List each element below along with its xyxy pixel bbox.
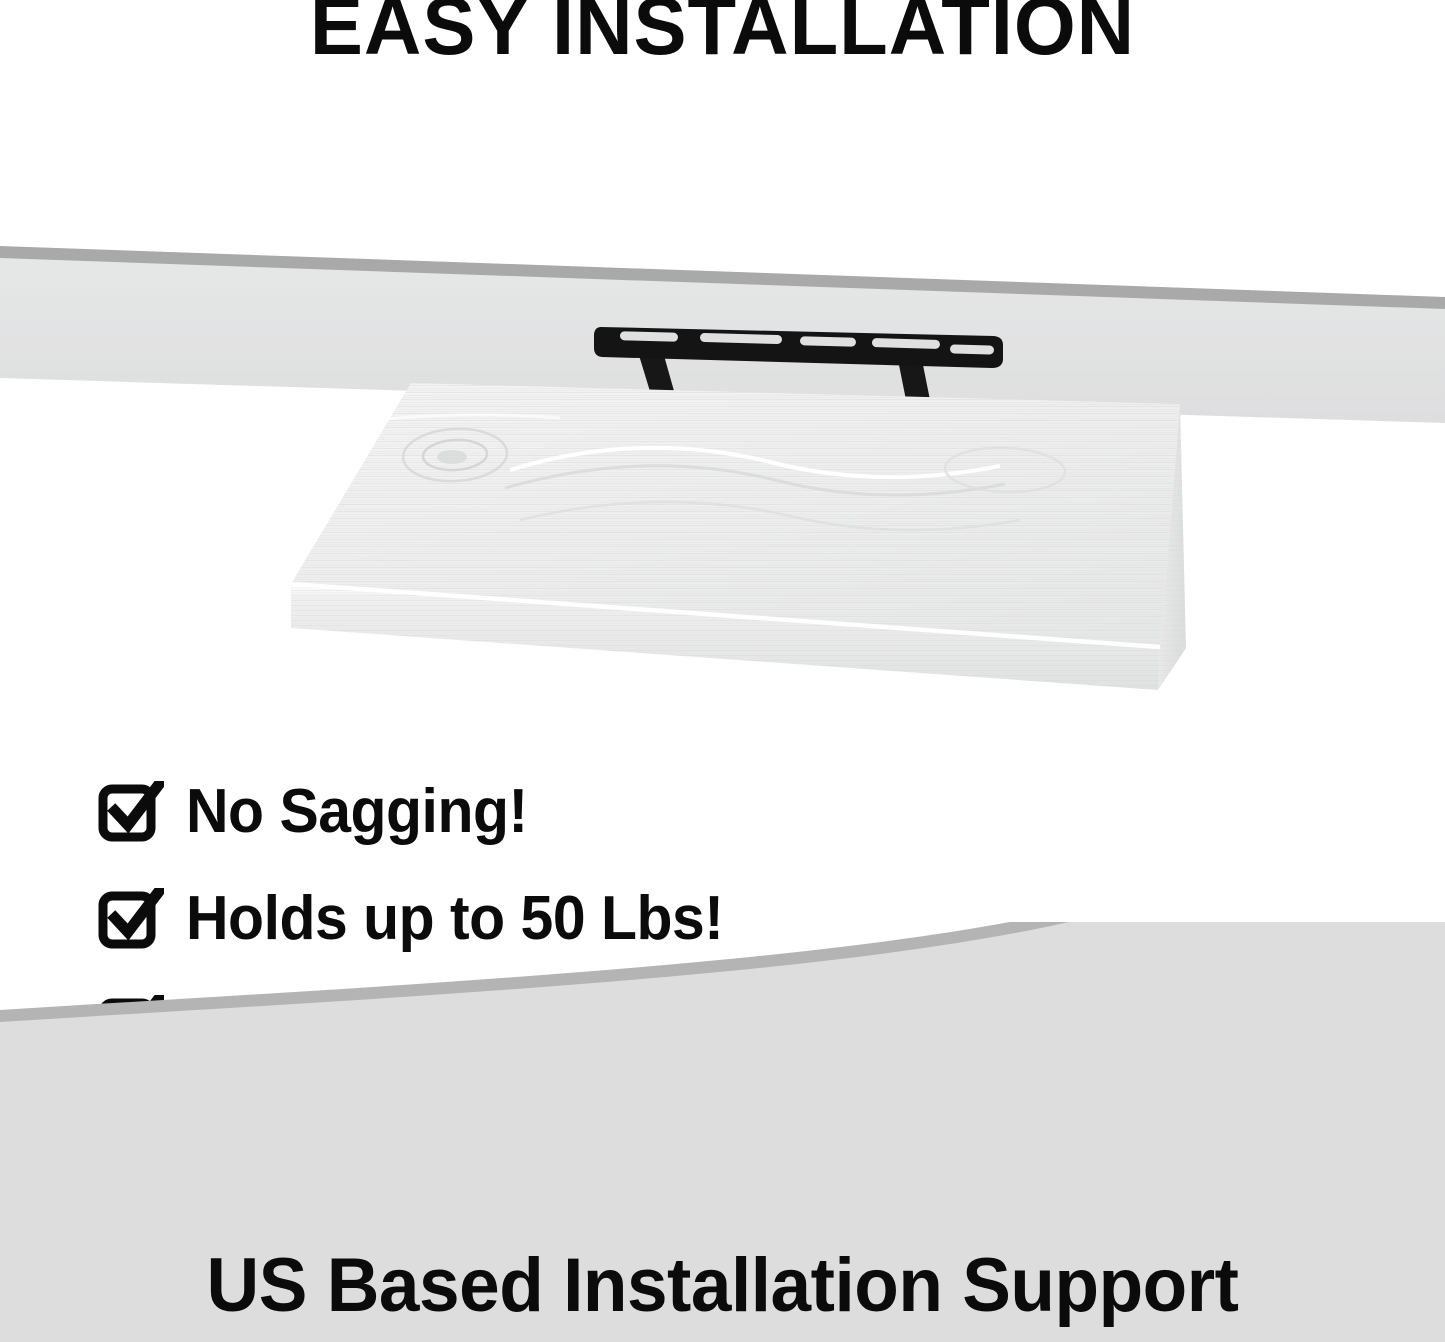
- product-feature-image: EASY INSTALLATION: [0, 0, 1445, 1342]
- checkbox-checked-icon: [98, 781, 164, 843]
- footer-title: US Based Installation Support: [29, 1248, 1416, 1324]
- list-item-label: No Sagging!: [186, 781, 528, 843]
- floating-shelf-board: [280, 375, 1200, 695]
- list-item: No Sagging!: [98, 758, 998, 865]
- product-scene: [0, 0, 1445, 760]
